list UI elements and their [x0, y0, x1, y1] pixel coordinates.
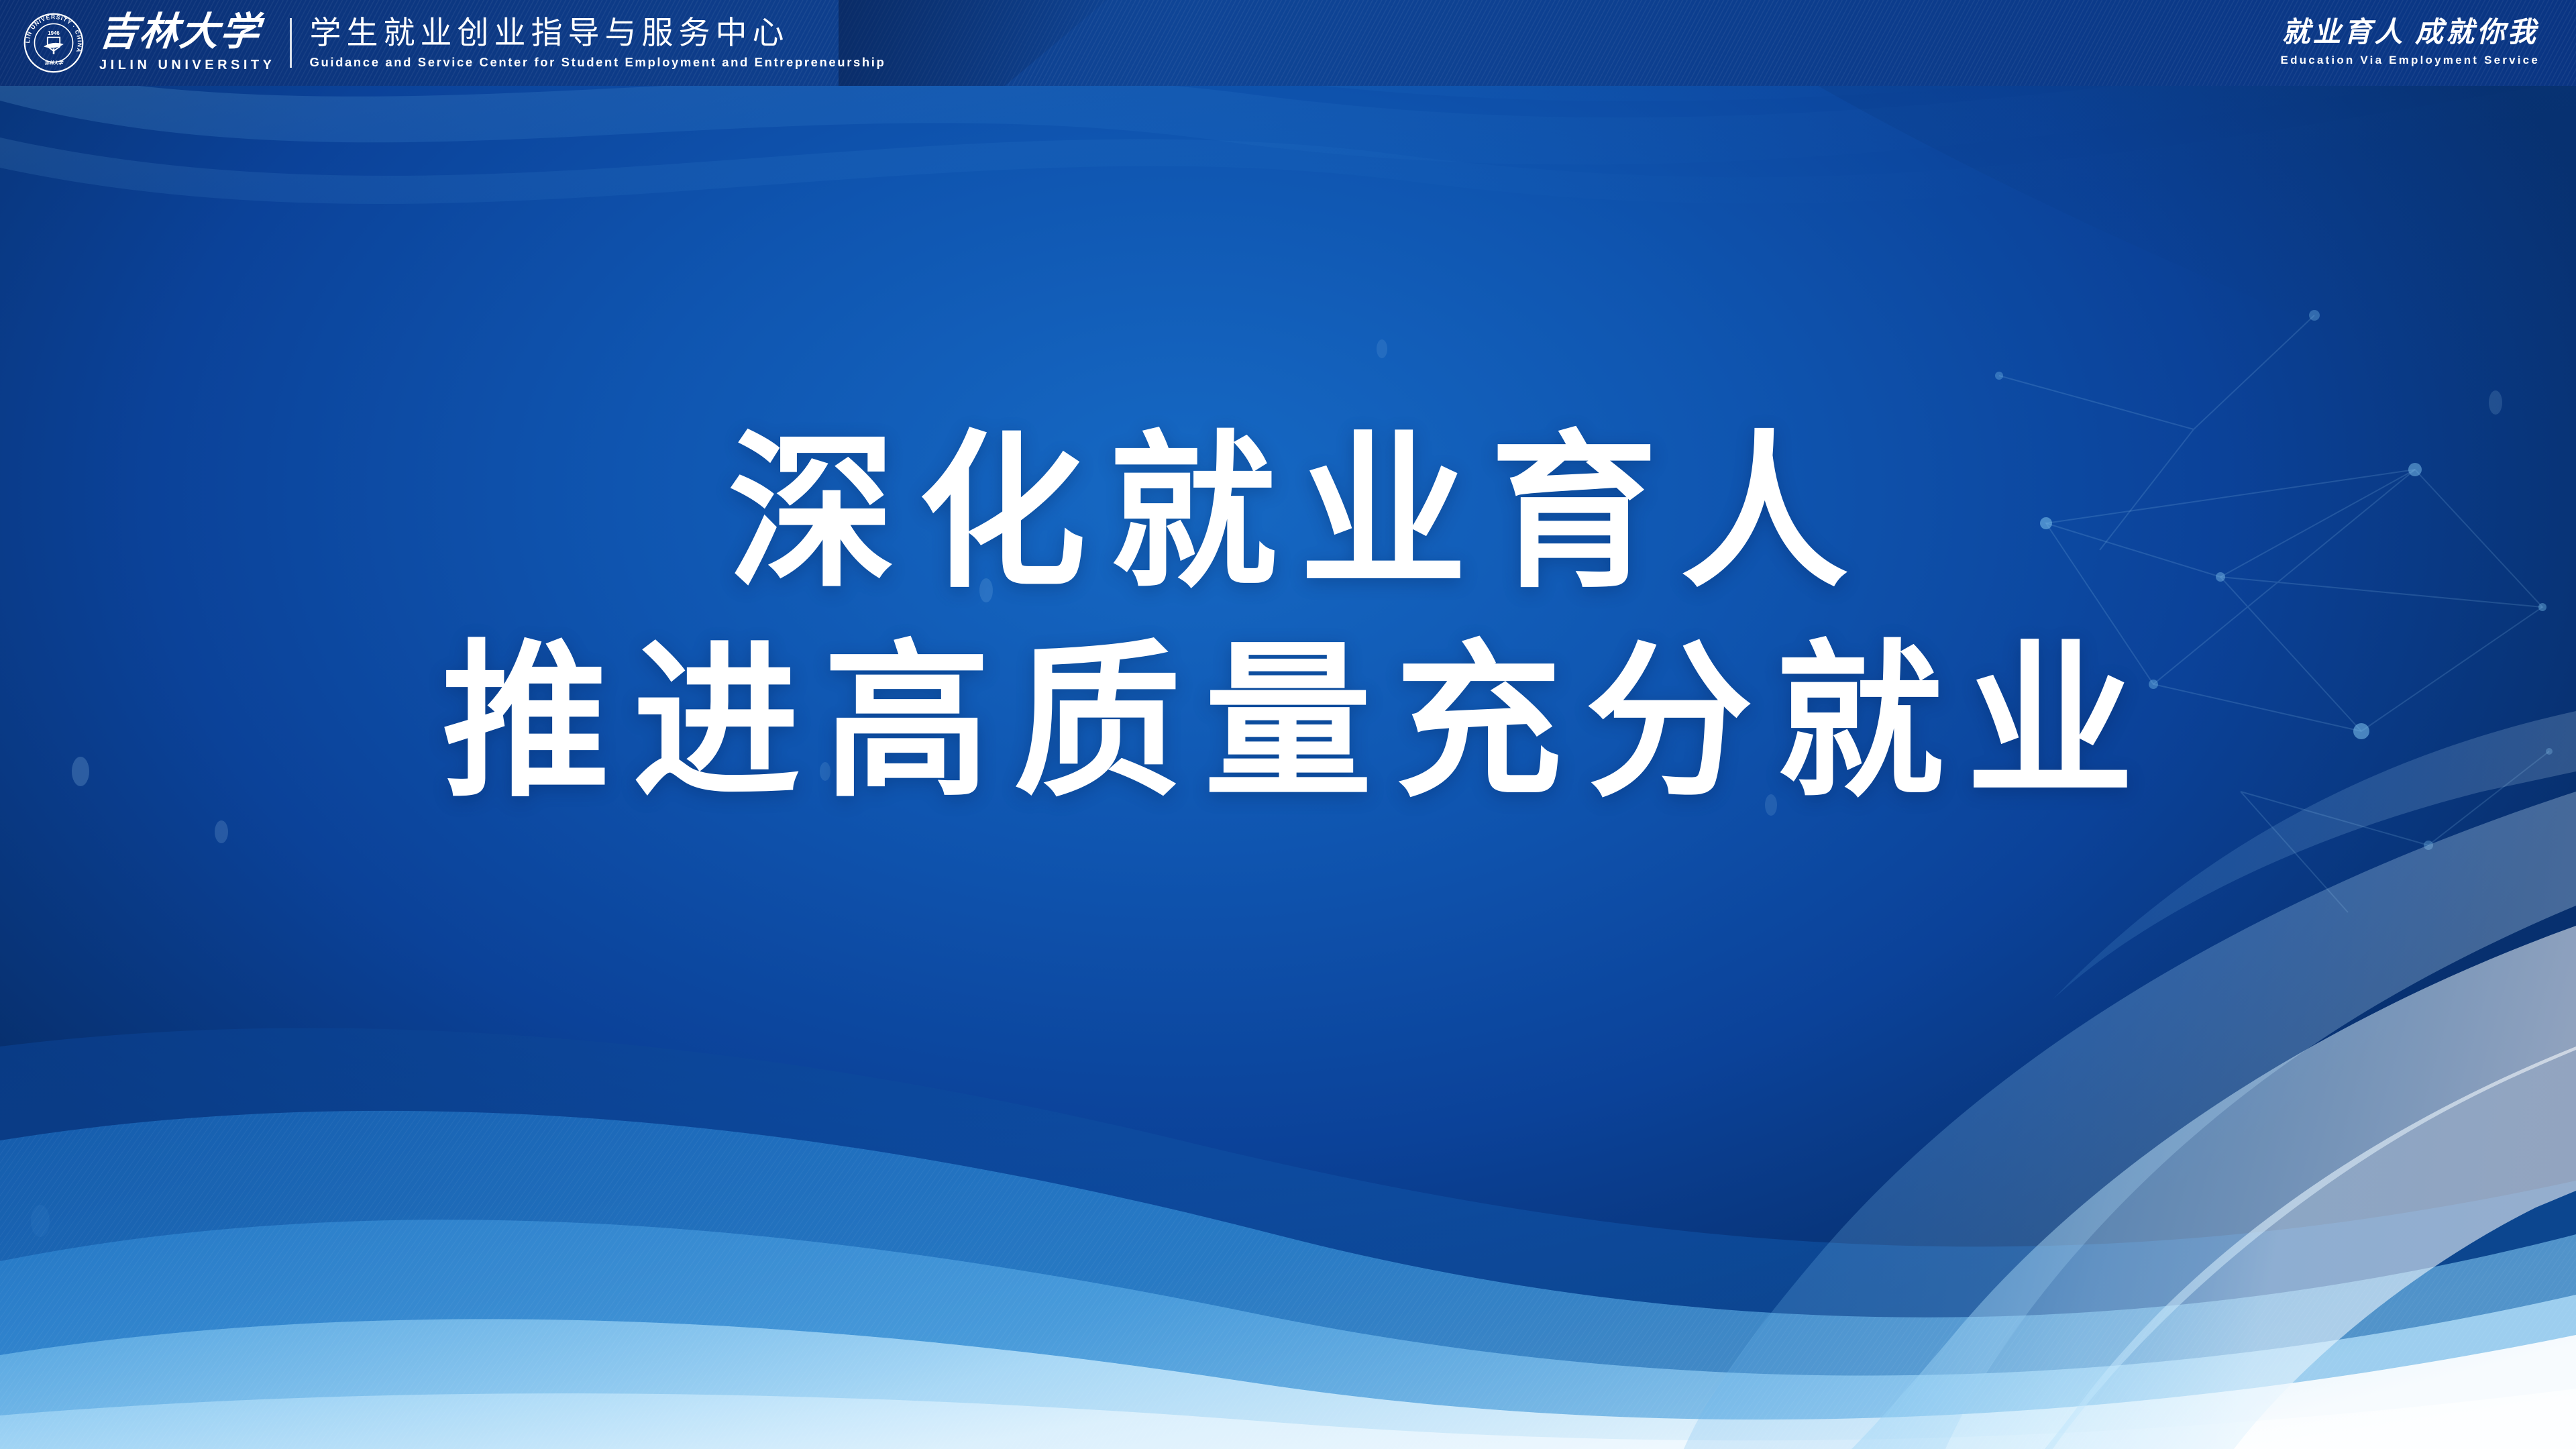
university-name-en: JILIN UNIVERSITY	[99, 58, 275, 73]
headline-line-2: 推进高质量充分就业	[419, 639, 2157, 806]
wave-4	[0, 1389, 2576, 1449]
poster-canvas: JILIN UNIVERSITY · CHINA 1946 吉林大学 吉林大学 …	[0, 0, 2576, 1449]
university-name-block: 吉林大学 JILIN UNIVERSITY	[99, 13, 275, 73]
center-name-block: 学生就业创业指导与服务中心 Guidance and Service Cente…	[309, 17, 885, 70]
university-name-cn: 吉林大学	[97, 13, 278, 52]
center-name-en: Guidance and Service Center for Student …	[309, 55, 885, 70]
header: JILIN UNIVERSITY · CHINA 1946 吉林大学 吉林大学 …	[0, 0, 2576, 86]
slogan-en: Education Via Employment Service	[2281, 54, 2540, 67]
svg-text:吉林大学: 吉林大学	[44, 60, 64, 66]
wave-sweep-right-1	[1684, 792, 2576, 1449]
header-divider	[290, 18, 292, 68]
wave-2	[0, 1220, 2576, 1449]
header-slogan-block: 就业育人 成就你我 Education Via Employment Servi…	[2281, 19, 2576, 67]
center-name-cn: 学生就业创业指导与服务中心	[309, 17, 885, 48]
upper-light-ribbon-3	[0, 80, 2576, 204]
wave-sweep-right-2	[1851, 926, 2576, 1449]
brand-lockup: JILIN UNIVERSITY · CHINA 1946 吉林大学 吉林大学 …	[0, 12, 885, 74]
main-headline: 深化就业育人 推进高质量充分就业	[0, 429, 2576, 806]
wave-1	[0, 1111, 2576, 1449]
headline-line-1: 深化就业育人	[705, 429, 1871, 597]
wave-texture	[0, 1111, 2576, 1449]
wave-3	[0, 1319, 2576, 1449]
slogan-cn: 就业育人 成就你我	[2282, 19, 2539, 47]
wave-dark	[0, 1028, 2576, 1449]
wave-sweep-right-3	[2045, 1046, 2576, 1449]
jilin-university-seal-icon: JILIN UNIVERSITY · CHINA 1946 吉林大学	[23, 12, 85, 74]
svg-text:1946: 1946	[48, 30, 60, 36]
